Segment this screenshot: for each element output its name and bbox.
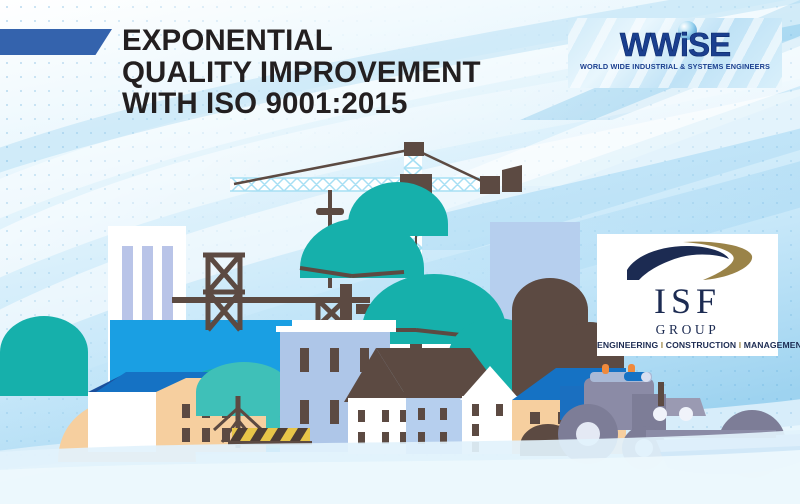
wwise-logo[interactable]: WWiSE WORLD WIDE INDUSTRIAL & SYSTEMS EN… <box>568 18 782 88</box>
wwise-wordmark: WWiSE <box>568 26 782 64</box>
page-title-line-3: WITH ISO 9001:2015 <box>122 88 552 120</box>
isf-name: ISF <box>597 280 778 322</box>
isf-tagline-sep-2: I <box>739 340 742 350</box>
isf-tagline-construction: CONSTRUCTION <box>666 340 736 350</box>
page-title-line-2: QUALITY IMPROVEMENT <box>122 57 552 89</box>
isf-swoosh-icon <box>625 240 753 282</box>
page-title: EXPONENTIAL QUALITY IMPROVEMENT WITH ISO… <box>122 25 552 120</box>
marketing-banner: EXPONENTIAL QUALITY IMPROVEMENT WITH ISO… <box>0 0 800 504</box>
accent-parallelogram <box>0 29 112 55</box>
wwise-tagline: WORLD WIDE INDUSTRIAL & SYSTEMS ENGINEER… <box>568 62 782 71</box>
page-title-line-1: EXPONENTIAL <box>122 25 552 57</box>
isf-group-logo[interactable]: ISF GROUP ENGINEERING I CONSTRUCTION I M… <box>597 234 778 356</box>
isf-tagline-sep-1: I <box>661 340 664 350</box>
isf-tagline-management: MANAGEMENT <box>744 340 800 350</box>
isf-tagline-engineering: ENGINEERING <box>597 340 658 350</box>
barrier-fence <box>228 428 312 445</box>
isf-tagline: ENGINEERING I CONSTRUCTION I MANAGEMENT <box>597 340 778 350</box>
isf-subname: GROUP <box>597 322 778 338</box>
